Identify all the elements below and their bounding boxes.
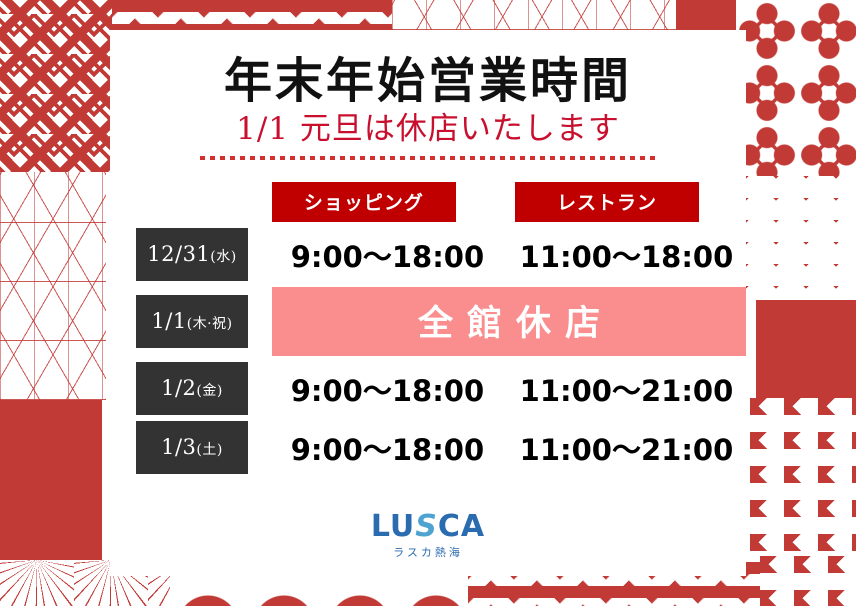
date-chip: 1/1(木·祝) xyxy=(136,295,248,348)
hours-table: ショッピング レストラン 12/31(水) 9:00～18:00 11:00～1… xyxy=(110,176,746,480)
hours-table-body: 12/31(水) 9:00～18:00 11:00～18:00 1/1(木·祝)… xyxy=(110,228,746,474)
date-main: 1/2 xyxy=(161,376,196,400)
brand-logo: LUSCA ラスカ熱海 xyxy=(110,512,746,560)
header-restaurant-label: レストラン xyxy=(515,182,699,222)
page-title: 年末年始営業時間 xyxy=(110,30,746,106)
date-cell: 1/3(土) xyxy=(110,421,268,474)
date-chip: 1/3(土) xyxy=(136,421,248,474)
date-chip: 12/31(水) xyxy=(136,228,248,281)
restaurant-hours: 11:00～21:00 xyxy=(507,362,746,415)
content-panel: 年末年始営業時間 1/1 元旦は休店いたします ショッピング レストラン xyxy=(110,30,746,576)
date-dow: (土) xyxy=(196,442,222,458)
table-header-row: ショッピング レストラン xyxy=(110,182,746,222)
solid-red-block-top xyxy=(676,0,736,30)
header-date xyxy=(110,182,268,222)
table-row: 1/2(金) 9:00～18:00 11:00～21:00 xyxy=(110,362,746,415)
restaurant-hours: 11:00～21:00 xyxy=(507,421,746,474)
date-dow: (木·祝) xyxy=(187,316,233,332)
header-shopping-label: ショッピング xyxy=(272,182,456,222)
date-cell: 1/1(木·祝) xyxy=(110,287,268,356)
arrow-feather-pattern-bottom-right xyxy=(760,556,856,606)
shopping-hours: 9:00～18:00 xyxy=(268,362,507,415)
closed-cell: 全館休店 xyxy=(268,287,746,356)
date-main: 1/3 xyxy=(161,435,196,459)
date-chip: 1/2(金) xyxy=(136,362,248,415)
closed-banner: 全館休店 xyxy=(272,287,746,356)
date-main: 1/1 xyxy=(151,309,186,333)
dotted-divider xyxy=(200,156,656,160)
solid-red-block-left xyxy=(0,400,102,560)
header-restaurant: レストラン xyxy=(507,182,746,222)
solid-red-block-right xyxy=(756,300,856,398)
date-main: 12/31 xyxy=(147,242,210,266)
date-cell: 12/31(水) xyxy=(110,228,268,281)
thin-zigzag-pattern-right xyxy=(746,176,856,306)
shopping-hours: 9:00～18:00 xyxy=(268,421,507,474)
date-dow: (金) xyxy=(196,383,222,399)
wave-s-icon: S xyxy=(415,509,438,544)
hemp-leaf-pattern-left xyxy=(0,172,106,400)
poster-canvas: 年末年始営業時間 1/1 元旦は休店いたします ショッピング レストラン xyxy=(0,0,856,606)
header-shopping: ショッピング xyxy=(268,182,507,222)
date-dow: (水) xyxy=(210,249,236,265)
logo-wordmark: LUSCA xyxy=(371,512,485,542)
arrow-feather-pattern-right xyxy=(750,398,856,588)
hours-table-head: ショッピング レストラン xyxy=(110,182,746,222)
hemp-leaf-pattern-top xyxy=(392,0,692,30)
date-cell: 1/2(金) xyxy=(110,362,268,415)
chevron-zigzag-pattern-top xyxy=(112,0,692,30)
table-row-closed: 1/1(木·祝) 全館休店 xyxy=(110,287,746,356)
diamond-lattice-pattern xyxy=(0,0,112,172)
logo-subtext: ラスカ熱海 xyxy=(110,544,746,560)
restaurant-hours: 11:00～18:00 xyxy=(507,228,746,281)
shopping-hours: 9:00～18:00 xyxy=(268,228,507,281)
table-row: 12/31(水) 9:00～18:00 11:00～18:00 xyxy=(110,228,746,281)
logo-wordmark-right: CA xyxy=(438,509,485,544)
logo-wordmark-left: LU xyxy=(371,509,415,544)
subtitle-notice: 1/1 元旦は休店いたします xyxy=(110,112,746,146)
cherry-blossom-pattern-right xyxy=(736,0,856,176)
table-row: 1/3(土) 9:00～18:00 11:00～21:00 xyxy=(110,421,746,474)
